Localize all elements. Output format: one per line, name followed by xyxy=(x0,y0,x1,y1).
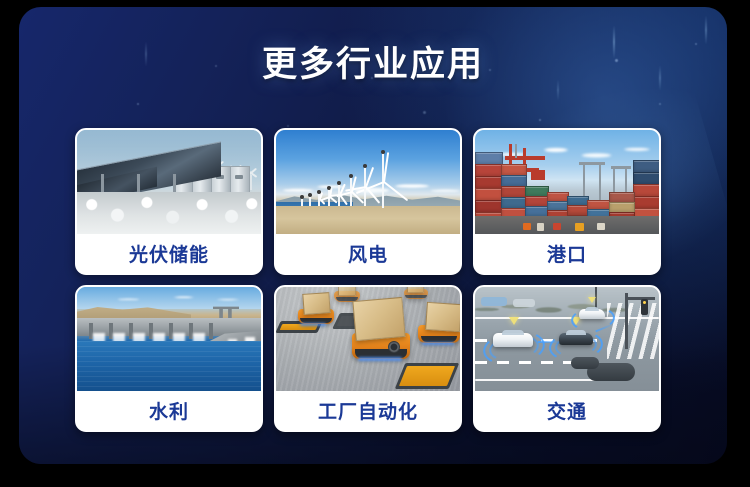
industry-card-photovoltaic-storage[interactable]: 光伏储能 xyxy=(75,128,263,275)
industry-card-transportation[interactable]: 交通 xyxy=(473,285,661,432)
industry-card-factory-automation[interactable]: 工厂自动化 xyxy=(274,285,462,432)
industry-card-water-conservancy[interactable]: 水利 xyxy=(75,285,263,432)
photovoltaic-storage-image xyxy=(77,130,261,234)
port-image xyxy=(475,130,659,234)
page-title: 更多行业应用 xyxy=(19,47,727,82)
content-panel: 更多行业应用 xyxy=(19,7,727,464)
industry-card-grid: 光伏储能 xyxy=(75,128,669,432)
factory-automation-image xyxy=(276,287,460,391)
industry-card-label: 光伏储能 xyxy=(77,234,261,273)
transportation-image xyxy=(475,287,659,391)
wind-power-image xyxy=(276,130,460,234)
industry-card-label: 工厂自动化 xyxy=(276,391,460,430)
industry-card-wind-power[interactable]: 风电 xyxy=(274,128,462,275)
water-conservancy-image xyxy=(77,287,261,391)
industry-card-label: 风电 xyxy=(276,234,460,273)
industry-card-label: 水利 xyxy=(77,391,261,430)
screenshot-root: 更多行业应用 xyxy=(0,0,750,487)
industry-card-label: 港口 xyxy=(475,234,659,273)
industry-card-label: 交通 xyxy=(475,391,659,430)
industry-card-port[interactable]: 港口 xyxy=(473,128,661,275)
